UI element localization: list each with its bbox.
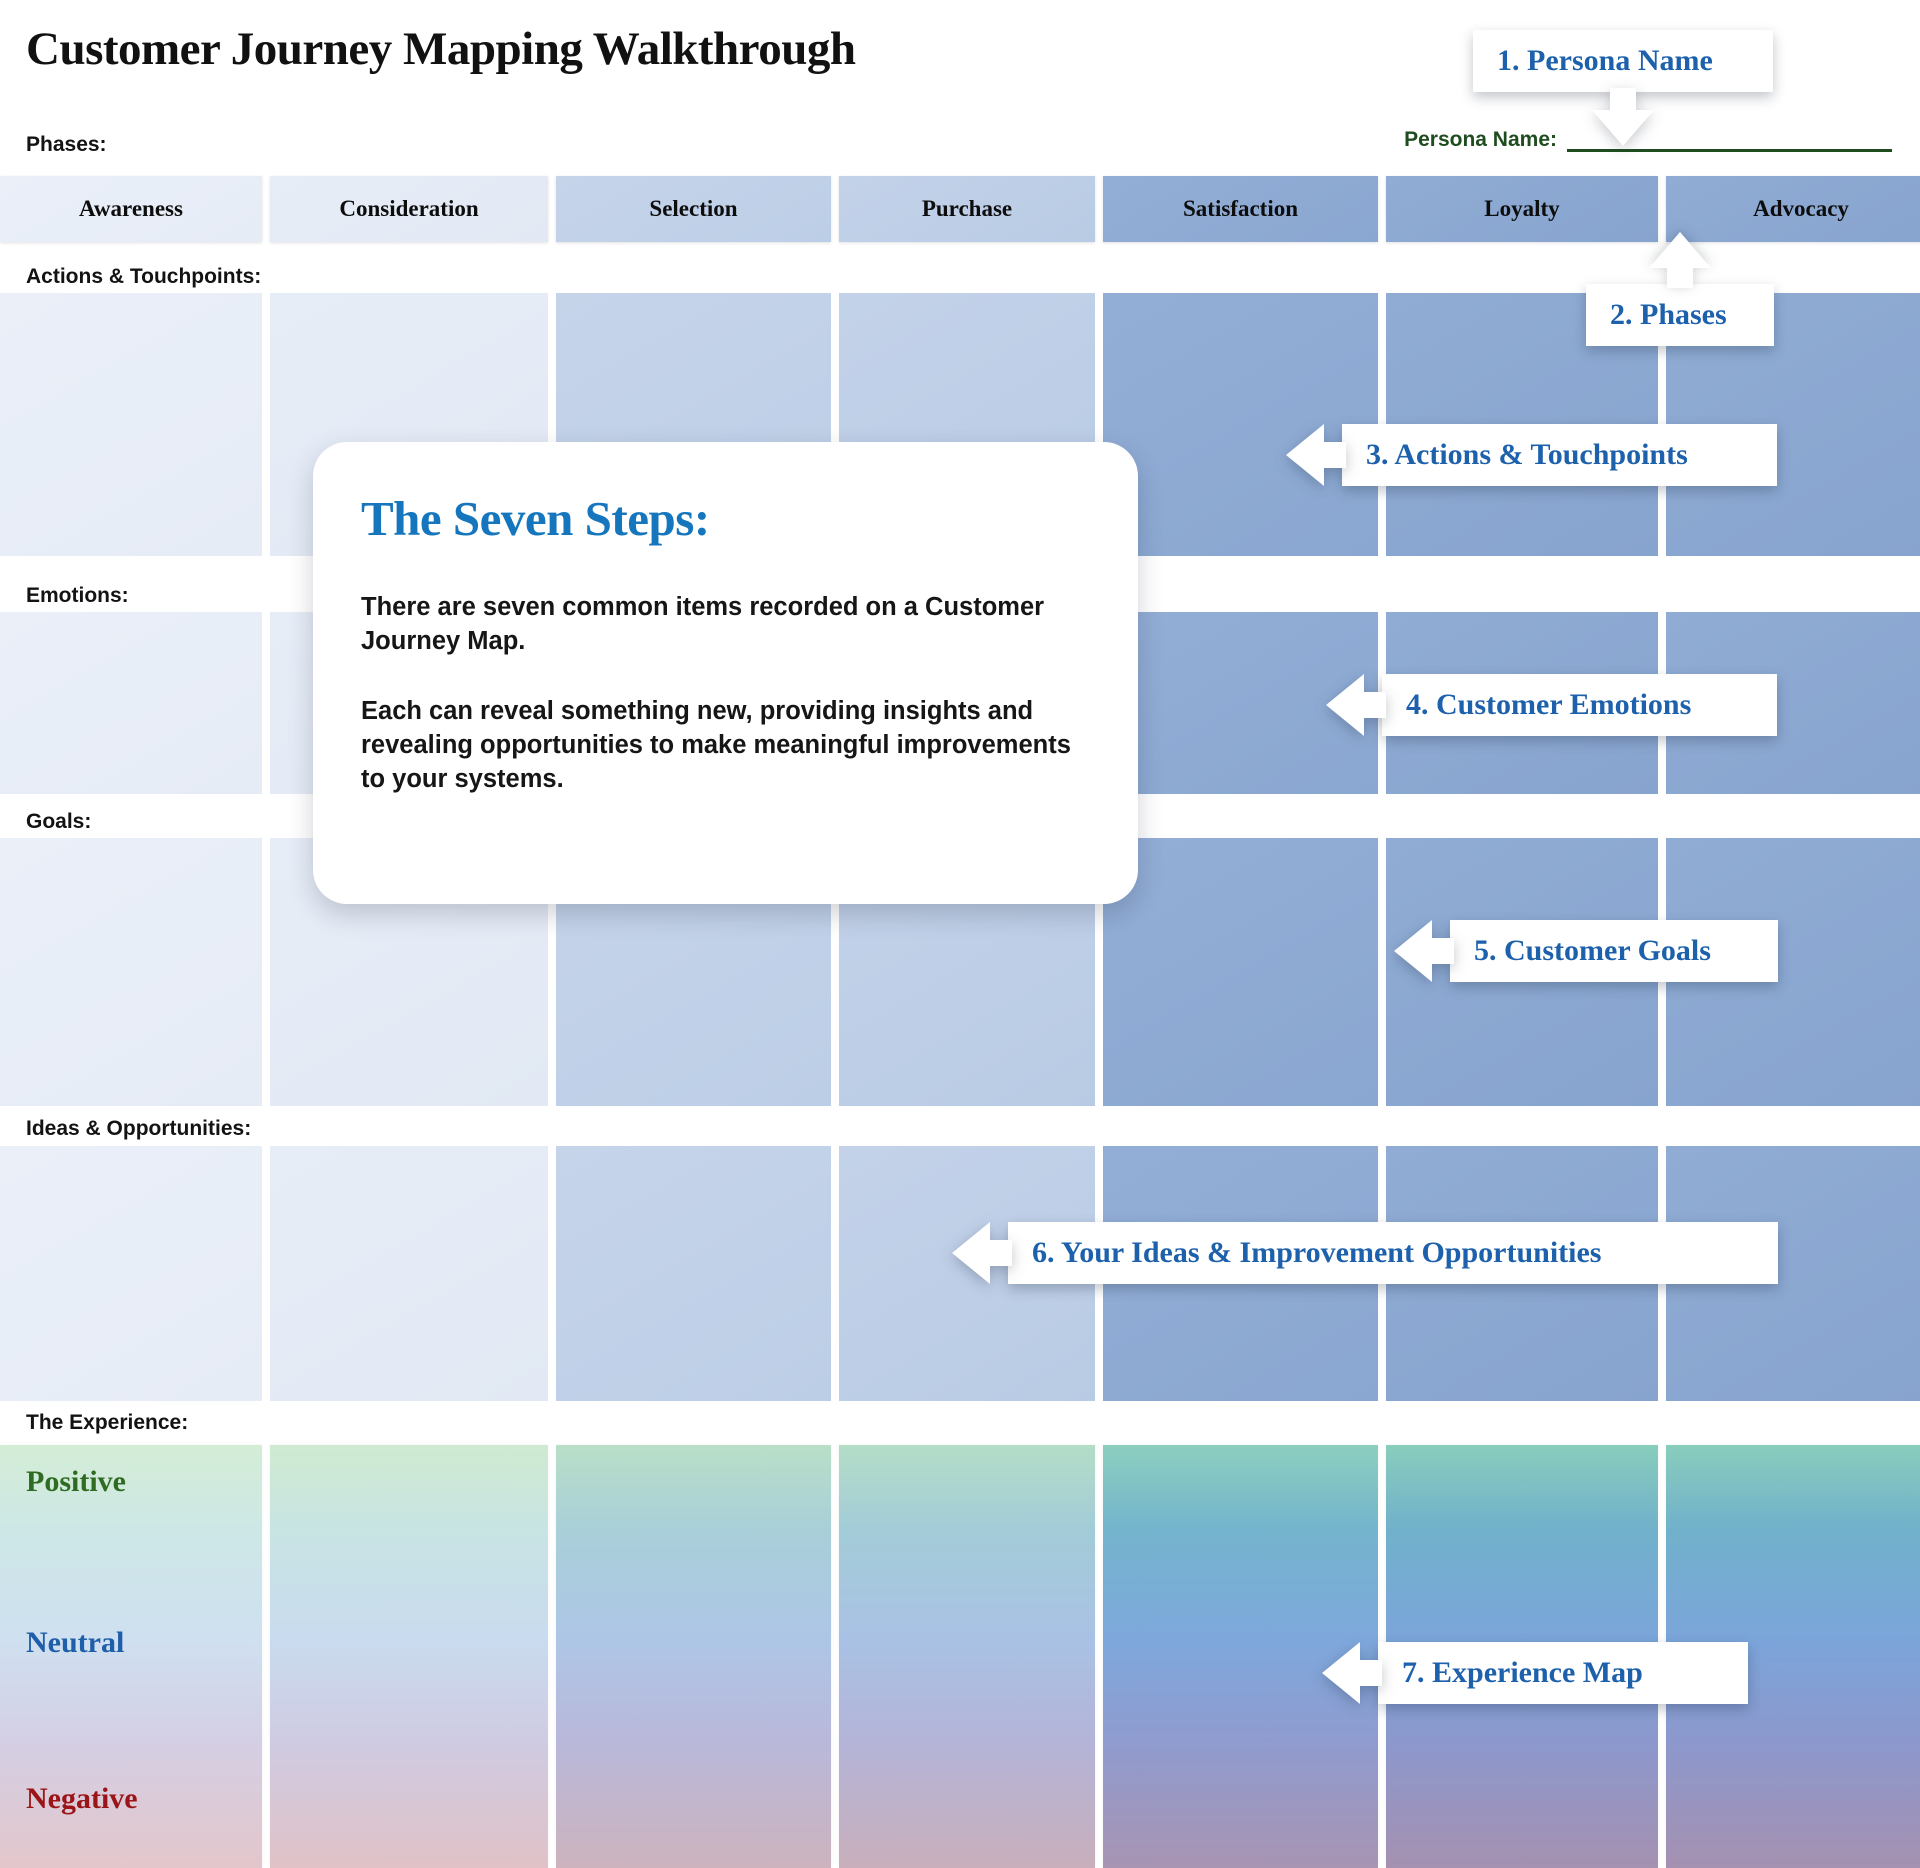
callout-customer-goals[interactable]: 5. Customer Goals [1450, 920, 1778, 982]
page-title: Customer Journey Mapping Walkthrough [26, 22, 855, 76]
persona-name-label: Persona Name: [1404, 128, 1557, 152]
experience-label-negative: Negative [26, 1782, 138, 1816]
goals-cell-awareness[interactable] [0, 838, 262, 1106]
row-label-actions: Actions & Touchpoints: [26, 265, 261, 289]
phase-cell-satisfaction[interactable]: Satisfaction [1103, 176, 1378, 242]
callout-phases[interactable]: 2. Phases [1586, 284, 1774, 346]
callout-ideas-opportunities-label: 6. Your Ideas & Improvement Opportunitie… [1008, 1236, 1625, 1270]
seven-steps-paragraph-1: There are seven common items recorded on… [361, 591, 1081, 659]
experience-cell-selection[interactable] [556, 1445, 831, 1868]
arrow-left-icon [952, 1222, 1012, 1284]
arrow-left-icon [1394, 920, 1454, 982]
row-label-goals: Goals: [26, 810, 91, 834]
emotions-cell-awareness[interactable] [0, 612, 262, 794]
seven-steps-title: The Seven Steps: [361, 490, 1082, 547]
callout-persona-name[interactable]: 1. Persona Name [1473, 30, 1773, 92]
callout-customer-goals-label: 5. Customer Goals [1450, 934, 1735, 968]
arrow-left-icon [1286, 424, 1346, 486]
callout-phases-label: 2. Phases [1586, 298, 1751, 332]
ideas-cell-selection[interactable] [556, 1146, 831, 1401]
journey-map-canvas: Customer Journey Mapping Walkthrough Per… [0, 0, 1920, 1868]
arrow-down-icon [1592, 88, 1654, 146]
callout-customer-emotions[interactable]: 4. Customer Emotions [1382, 674, 1777, 736]
arrow-up-icon [1649, 232, 1711, 288]
callout-experience-map[interactable]: 7. Experience Map [1378, 1642, 1748, 1704]
callout-ideas-opportunities[interactable]: 6. Your Ideas & Improvement Opportunitie… [1008, 1222, 1778, 1284]
phase-cell-loyalty[interactable]: Loyalty [1386, 176, 1658, 242]
goals-cell-satisfaction[interactable] [1103, 838, 1378, 1106]
callout-persona-name-label: 1. Persona Name [1473, 44, 1737, 78]
callout-experience-map-label: 7. Experience Map [1378, 1656, 1667, 1690]
experience-cell-consideration[interactable] [270, 1445, 548, 1868]
row-label-emotions: Emotions: [26, 584, 129, 608]
phase-cell-consideration[interactable]: Consideration [270, 176, 548, 242]
phase-cell-selection[interactable]: Selection [556, 176, 831, 242]
experience-label-positive: Positive [26, 1465, 126, 1499]
experience-label-neutral: Neutral [26, 1626, 124, 1660]
phases-row: Awareness Consideration Selection Purcha… [0, 176, 1920, 242]
phase-cell-purchase[interactable]: Purchase [839, 176, 1095, 242]
phase-cell-awareness[interactable]: Awareness [0, 176, 262, 242]
seven-steps-paragraph-2: Each can reveal something new, providing… [361, 695, 1081, 797]
arrow-left-icon [1326, 674, 1386, 736]
callout-actions-touchpoints-label: 3. Actions & Touchpoints [1342, 438, 1712, 472]
row-label-ideas: Ideas & Opportunities: [26, 1117, 251, 1141]
callout-actions-touchpoints[interactable]: 3. Actions & Touchpoints [1342, 424, 1777, 486]
arrow-left-icon [1322, 1642, 1382, 1704]
callout-customer-emotions-label: 4. Customer Emotions [1382, 688, 1715, 722]
seven-steps-card: The Seven Steps: There are seven common … [313, 442, 1138, 904]
experience-cell-purchase[interactable] [839, 1445, 1095, 1868]
row-label-phases: Phases: [26, 133, 107, 157]
actions-cell-awareness[interactable] [0, 293, 262, 556]
ideas-cell-awareness[interactable] [0, 1146, 262, 1401]
row-label-experience: The Experience: [26, 1411, 188, 1435]
ideas-cell-consideration[interactable] [270, 1146, 548, 1401]
